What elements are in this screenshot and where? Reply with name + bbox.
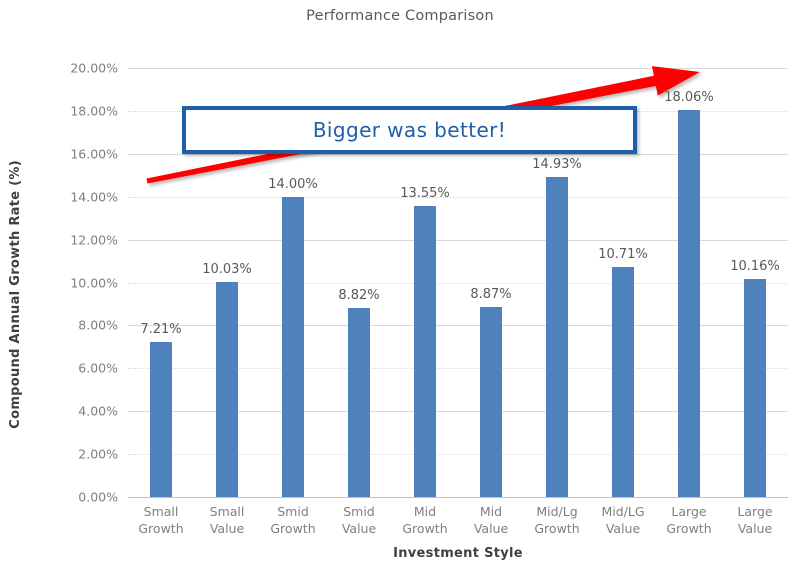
bar-value-label: 10.16% (730, 259, 780, 274)
callout-annotation-box: Bigger was better! (182, 106, 637, 154)
bar-value-label: 10.03% (202, 262, 252, 277)
y-axis-tick-label: 6.00% (18, 361, 118, 376)
bar-value-label: 7.21% (140, 322, 181, 337)
bar (348, 308, 370, 497)
bar-value-label: 10.71% (598, 247, 648, 262)
x-axis-category-label-line: Mid/LG (601, 503, 644, 520)
bar (546, 177, 568, 497)
bar (480, 307, 502, 497)
x-axis-category-label-line: Mid (474, 503, 508, 520)
x-axis-category-label: LargeGrowth (666, 503, 711, 537)
x-axis-category-label-line: Smid (270, 503, 315, 520)
y-axis-tick-label: 16.00% (18, 146, 118, 161)
x-axis-category-label-line: Growth (138, 520, 183, 537)
bar (678, 110, 700, 497)
bar (282, 197, 304, 497)
x-axis-category-label-line: Value (474, 520, 508, 537)
y-axis-tick-label: 0.00% (18, 490, 118, 505)
bar-value-label: 13.55% (400, 186, 450, 201)
y-axis-tick-label: 10.00% (18, 275, 118, 290)
y-axis-tick-label: 2.00% (18, 447, 118, 462)
x-axis-category-label: SmallGrowth (138, 503, 183, 537)
bar (744, 279, 766, 497)
x-axis-title: Investment Style (128, 546, 788, 561)
x-axis-category-label: Mid/LGValue (601, 503, 644, 537)
bar-value-label: 14.00% (268, 177, 318, 192)
x-axis-category-label-line: Value (342, 520, 376, 537)
bar-value-label: 18.06% (664, 90, 714, 105)
x-axis-category-label-line: Growth (666, 520, 711, 537)
bar (150, 342, 172, 497)
x-axis-category-label: LargeValue (737, 503, 772, 537)
bar-value-label: 14.93% (532, 157, 582, 172)
bar (612, 267, 634, 497)
x-axis-category-label-line: Mid/Lg (534, 503, 579, 520)
x-axis-category-label: MidValue (474, 503, 508, 537)
x-axis-category-label-line: Large (737, 503, 772, 520)
x-axis-category-label: Mid/LgGrowth (534, 503, 579, 537)
chart-title: Performance Comparison (0, 8, 800, 24)
x-axis-category-label-line: Growth (270, 520, 315, 537)
x-axis-category-label-line: Value (737, 520, 772, 537)
bar-value-label: 8.82% (338, 288, 379, 303)
gridline (128, 68, 788, 69)
chart-container: Performance Comparison Compound Annual G… (0, 0, 800, 577)
y-axis-tick-label: 20.00% (18, 61, 118, 76)
x-axis-baseline (128, 497, 788, 498)
y-axis-tick-label: 14.00% (18, 189, 118, 204)
bar-value-label: 8.87% (470, 287, 511, 302)
x-axis-category-label-line: Large (666, 503, 711, 520)
callout-annotation-text: Bigger was better! (313, 118, 506, 142)
y-axis-tick-label: 4.00% (18, 404, 118, 419)
bar (414, 206, 436, 497)
x-axis-category-label-line: Small (210, 503, 245, 520)
x-axis-category-label: SmidValue (342, 503, 376, 537)
y-axis-tick-label: 18.00% (18, 103, 118, 118)
x-axis-category-label-line: Smid (342, 503, 376, 520)
x-axis-category-label-line: Value (601, 520, 644, 537)
x-axis-category-label-line: Small (138, 503, 183, 520)
x-axis-category-label-line: Value (210, 520, 245, 537)
x-axis-category-label-line: Growth (402, 520, 447, 537)
y-axis-tick-label: 12.00% (18, 232, 118, 247)
x-axis-category-label: SmallValue (210, 503, 245, 537)
bar (216, 282, 238, 497)
x-axis-category-label-line: Mid (402, 503, 447, 520)
x-axis-category-label-line: Growth (534, 520, 579, 537)
x-axis-category-label: MidGrowth (402, 503, 447, 537)
y-axis-tick-label: 8.00% (18, 318, 118, 333)
x-axis-category-label: SmidGrowth (270, 503, 315, 537)
